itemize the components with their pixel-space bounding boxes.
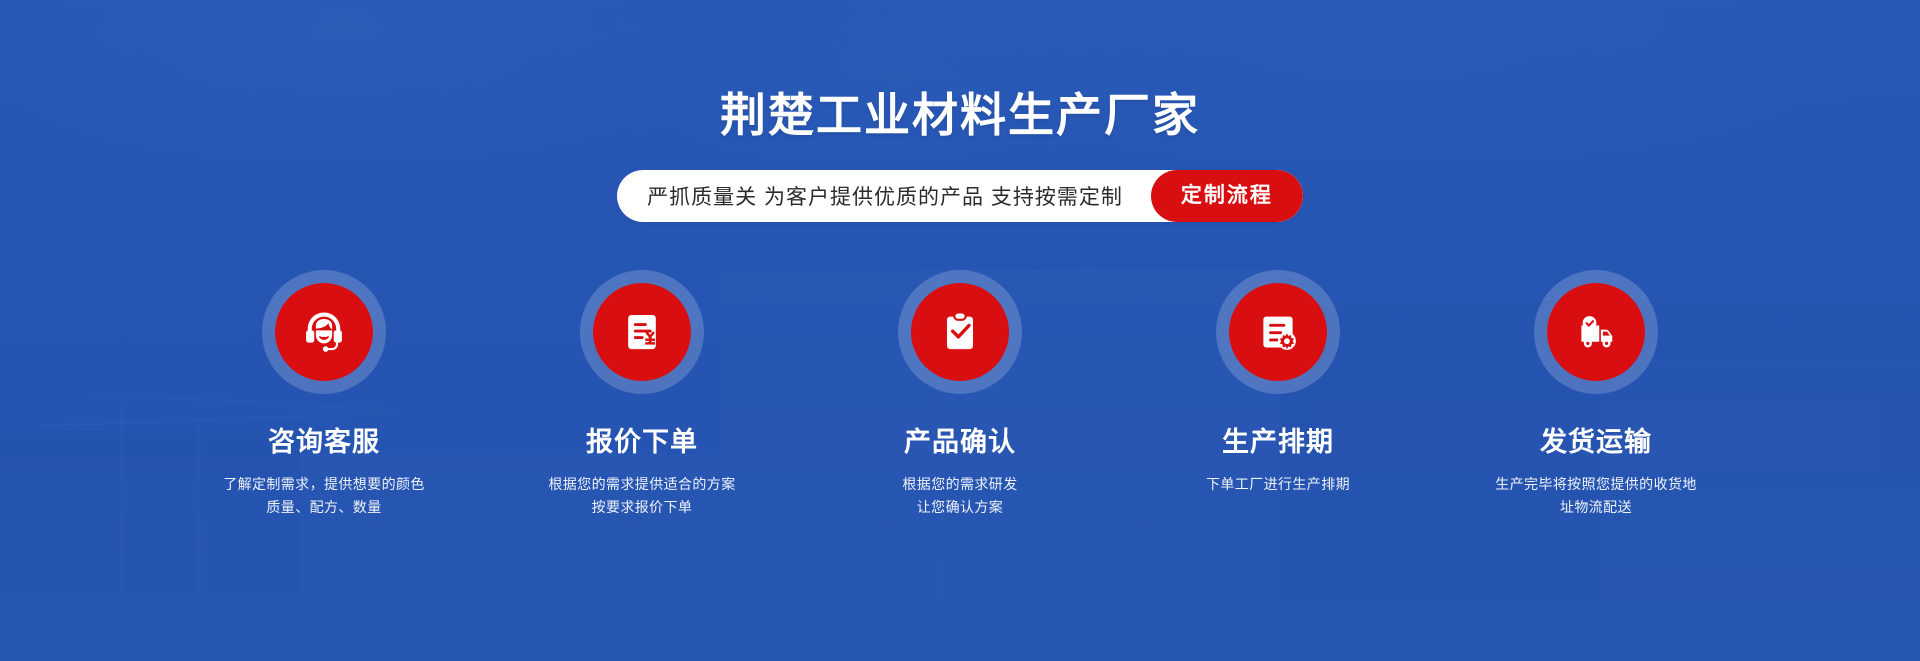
slogan-bar: 严抓质量关 为客户提供优质的产品 支持按需定制 定制流程 [617, 170, 1303, 222]
slogan-text: 严抓质量关 为客户提供优质的产品 支持按需定制 [647, 181, 1151, 211]
step-description-line2: 让您确认方案 [902, 496, 1017, 519]
step-title: 报价下单 [586, 420, 698, 459]
step-description-line1: 根据您的需求提供适合的方案 [548, 473, 735, 496]
step-icon-badge [911, 283, 1009, 381]
step-description: 根据您的需求研发 让您确认方案 [902, 473, 1017, 519]
step-description-line1: 根据您的需求研发 [902, 473, 1017, 496]
step-description: 生产完毕将按照您提供的收货地 址物流配送 [1495, 473, 1697, 519]
process-step[interactable]: 生产排期 下单工厂进行生产排期 [1148, 270, 1408, 496]
step-title: 发货运输 [1540, 420, 1652, 459]
step-icon-badge [275, 283, 373, 381]
process-step[interactable]: 报价下单 根据您的需求提供适合的方案 按要求报价下单 [512, 270, 772, 519]
delivery-truck-check-icon [1570, 306, 1622, 358]
step-description-line1: 了解定制需求，提供想要的颜色 [223, 473, 425, 496]
custom-process-button[interactable]: 定制流程 [1151, 170, 1303, 222]
step-description: 了解定制需求，提供想要的颜色 质量、配方、数量 [223, 473, 425, 519]
step-description-line1: 生产完毕将按照您提供的收货地 [1495, 473, 1697, 496]
step-description: 根据您的需求提供适合的方案 按要求报价下单 [548, 473, 735, 519]
step-title: 产品确认 [904, 420, 1016, 459]
step-icon-halo [898, 270, 1022, 394]
step-description-line2: 质量、配方、数量 [223, 496, 425, 519]
process-step[interactable]: 发货运输 生产完毕将按照您提供的收货地 址物流配送 [1466, 270, 1726, 519]
document-gear-icon [1252, 306, 1304, 358]
step-icon-halo [580, 270, 704, 394]
process-steps: 咨询客服 了解定制需求，提供想要的颜色 质量、配方、数量 [194, 270, 1726, 519]
process-step[interactable]: 产品确认 根据您的需求研发 让您确认方案 [830, 270, 1090, 519]
quote-invoice-yuan-icon [616, 306, 668, 358]
step-title: 咨询客服 [268, 420, 380, 459]
banner-content: 荆楚工业材料生产厂家 严抓质量关 为客户提供优质的产品 支持按需定制 定制流程 [0, 0, 1920, 661]
step-description-line2: 按要求报价下单 [548, 496, 735, 519]
step-icon-halo [1216, 270, 1340, 394]
step-icon-halo [1534, 270, 1658, 394]
step-description-line1: 下单工厂进行生产排期 [1206, 473, 1350, 496]
process-step[interactable]: 咨询客服 了解定制需求，提供想要的颜色 质量、配方、数量 [194, 270, 454, 519]
step-description: 下单工厂进行生产排期 [1206, 473, 1350, 496]
step-title: 生产排期 [1222, 420, 1334, 459]
step-icon-badge [593, 283, 691, 381]
headset-support-icon [298, 306, 350, 358]
step-icon-halo [262, 270, 386, 394]
step-icon-badge [1547, 283, 1645, 381]
page-title: 荆楚工业材料生产厂家 [720, 92, 1200, 138]
clipboard-check-icon [934, 306, 986, 358]
step-icon-badge [1229, 283, 1327, 381]
step-description-line2: 址物流配送 [1495, 496, 1697, 519]
promo-banner: 荆楚工业材料生产厂家 严抓质量关 为客户提供优质的产品 支持按需定制 定制流程 [0, 0, 1920, 661]
